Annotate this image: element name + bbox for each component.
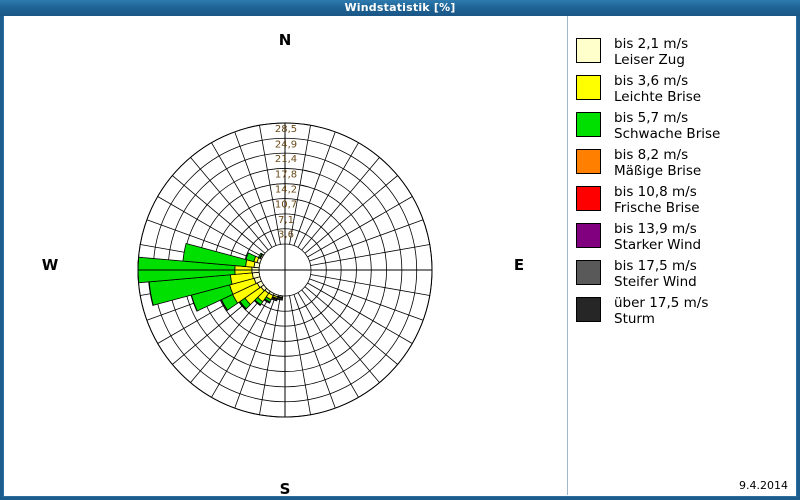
- radial-tick-label: 14,2: [275, 185, 297, 196]
- legend-item-speed: bis 3,6 m/s: [614, 73, 688, 89]
- legend-item-speed: bis 13,9 m/s: [614, 221, 697, 237]
- legend-color-swatch: [576, 186, 601, 211]
- legend-item[interactable]: über 17,5 m/s Sturm: [576, 295, 791, 327]
- compass-label-north: N: [279, 31, 292, 49]
- legend-item-name: Sturm: [614, 311, 708, 327]
- legend-item-name: Starker Wind: [614, 237, 701, 253]
- legend-color-swatch: [576, 260, 601, 285]
- legend-item-speed: bis 10,8 m/s: [614, 184, 697, 200]
- legend-item[interactable]: bis 5,7 m/s Schwache Brise: [576, 110, 791, 142]
- legend-color-swatch: [576, 149, 601, 174]
- radial-tick-label: 17,8: [275, 169, 297, 180]
- legend-item-speed: bis 2,1 m/s: [614, 36, 688, 52]
- legend-item-text: bis 3,6 m/s Leichte Brise: [614, 73, 701, 105]
- compass-label-west: W: [42, 256, 59, 274]
- legend-item[interactable]: bis 2,1 m/s Leiser Zug: [576, 36, 791, 68]
- legend-item-speed: über 17,5 m/s: [614, 295, 708, 311]
- legend-item-name: Frische Brise: [614, 200, 700, 216]
- radial-tick-label: 7,1: [278, 215, 294, 226]
- legend-item[interactable]: bis 13,9 m/s Starker Wind: [576, 221, 791, 253]
- legend-item-text: bis 13,9 m/s Starker Wind: [614, 221, 701, 253]
- client-area: 3,67,110,714,217,821,424,928,5 N E S W b…: [3, 16, 797, 497]
- legend-item-text: bis 2,1 m/s Leiser Zug: [614, 36, 688, 68]
- legend-item-name: Mäßige Brise: [614, 163, 701, 179]
- legend-item[interactable]: bis 10,8 m/s Frische Brise: [576, 184, 791, 216]
- legend-item-speed: bis 17,5 m/s: [614, 258, 697, 274]
- compass-label-east: E: [514, 256, 524, 274]
- legend-item[interactable]: bis 17,5 m/s Steifer Wind: [576, 258, 791, 290]
- legend: bis 2,1 m/s Leiser Zug bis 3,6 m/s Leich…: [576, 36, 791, 332]
- legend-color-swatch: [576, 223, 601, 248]
- legend-item-text: bis 8,2 m/s Mäßige Brise: [614, 147, 701, 179]
- legend-item-text: bis 10,8 m/s Frische Brise: [614, 184, 700, 216]
- radial-tick-label: 10,7: [275, 200, 297, 211]
- legend-item-text: bis 5,7 m/s Schwache Brise: [614, 110, 720, 142]
- wind-rose-svg: 3,67,110,714,217,821,424,928,5 N E S W: [4, 16, 567, 495]
- window-title-bar: Windstatistik [%]: [0, 0, 800, 16]
- legend-item-text: bis 17,5 m/s Steifer Wind: [614, 258, 697, 290]
- legend-item-name: Steifer Wind: [614, 274, 697, 290]
- legend-item-speed: bis 5,7 m/s: [614, 110, 688, 126]
- legend-item-name: Leichte Brise: [614, 89, 701, 105]
- panel-divider: [567, 16, 568, 495]
- radial-tick-label: 24,9: [275, 139, 297, 150]
- legend-item-text: über 17,5 m/s Sturm: [614, 295, 708, 327]
- legend-item[interactable]: bis 3,6 m/s Leichte Brise: [576, 73, 791, 105]
- legend-item-speed: bis 8,2 m/s: [614, 147, 688, 163]
- legend-item-name: Schwache Brise: [614, 126, 720, 142]
- window-title: Windstatistik [%]: [344, 0, 455, 16]
- legend-color-swatch: [576, 38, 601, 63]
- legend-item-name: Leiser Zug: [614, 52, 688, 68]
- legend-color-swatch: [576, 297, 601, 322]
- legend-color-swatch: [576, 75, 601, 100]
- radial-tick-label: 3,6: [278, 230, 294, 241]
- legend-item[interactable]: bis 8,2 m/s Mäßige Brise: [576, 147, 791, 179]
- date-stamp: 9.4.2014: [739, 479, 788, 492]
- compass-label-south: S: [280, 480, 291, 495]
- radial-tick-label: 21,4: [275, 154, 297, 165]
- legend-color-swatch: [576, 112, 601, 137]
- wind-rose-chart: 3,67,110,714,217,821,424,928,5 N E S W: [4, 16, 567, 495]
- application-window: Windstatistik [%] 3,67,110,714,217,821,4…: [0, 0, 800, 500]
- radial-tick-label: 28,5: [275, 124, 297, 135]
